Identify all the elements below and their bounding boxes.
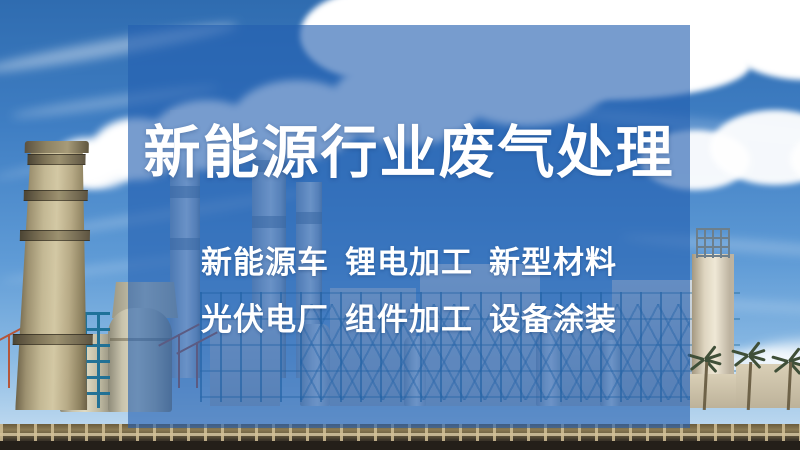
- palm-frond: [771, 355, 788, 363]
- banner-subtitle-line-2: 光伏电厂组件加工设备涂装: [142, 304, 676, 335]
- foreground-smokestack: [15, 148, 92, 410]
- subtitle-item-new-materials: 新型材料: [489, 245, 617, 280]
- smokestack-band: [24, 190, 88, 201]
- subtitle-item-lithium-battery-processing: 锂电加工: [345, 245, 473, 280]
- banner-text-block: 新能源行业废气处理 新能源车锂电加工新型材料 光伏电厂组件加工设备涂装: [128, 25, 690, 428]
- subtitle-item-new-energy-vehicle: 新能源车: [201, 245, 329, 280]
- smokestack-band: [13, 334, 93, 345]
- seawall-shadow: [0, 441, 800, 450]
- site-building: [690, 374, 738, 408]
- smokestack-shaft: [15, 148, 92, 410]
- smokestack-band: [27, 154, 85, 165]
- banner-headline: 新能源行业废气处理: [142, 125, 676, 182]
- subtitle-item-component-processing: 组件加工: [345, 302, 473, 337]
- subtitle-item-equipment-coating: 设备涂装: [489, 302, 617, 337]
- smokestack-band: [20, 230, 90, 241]
- construction-crane: [8, 334, 10, 388]
- smokestack-rim: [25, 141, 89, 153]
- banner-subtitle-line-1: 新能源车锂电加工新型材料: [142, 247, 676, 278]
- subtitle-item-photovoltaic-plant: 光伏电厂: [201, 302, 329, 337]
- promo-banner: 新能源行业废气处理 新能源车锂电加工新型材料 光伏电厂组件加工设备涂装: [0, 0, 800, 450]
